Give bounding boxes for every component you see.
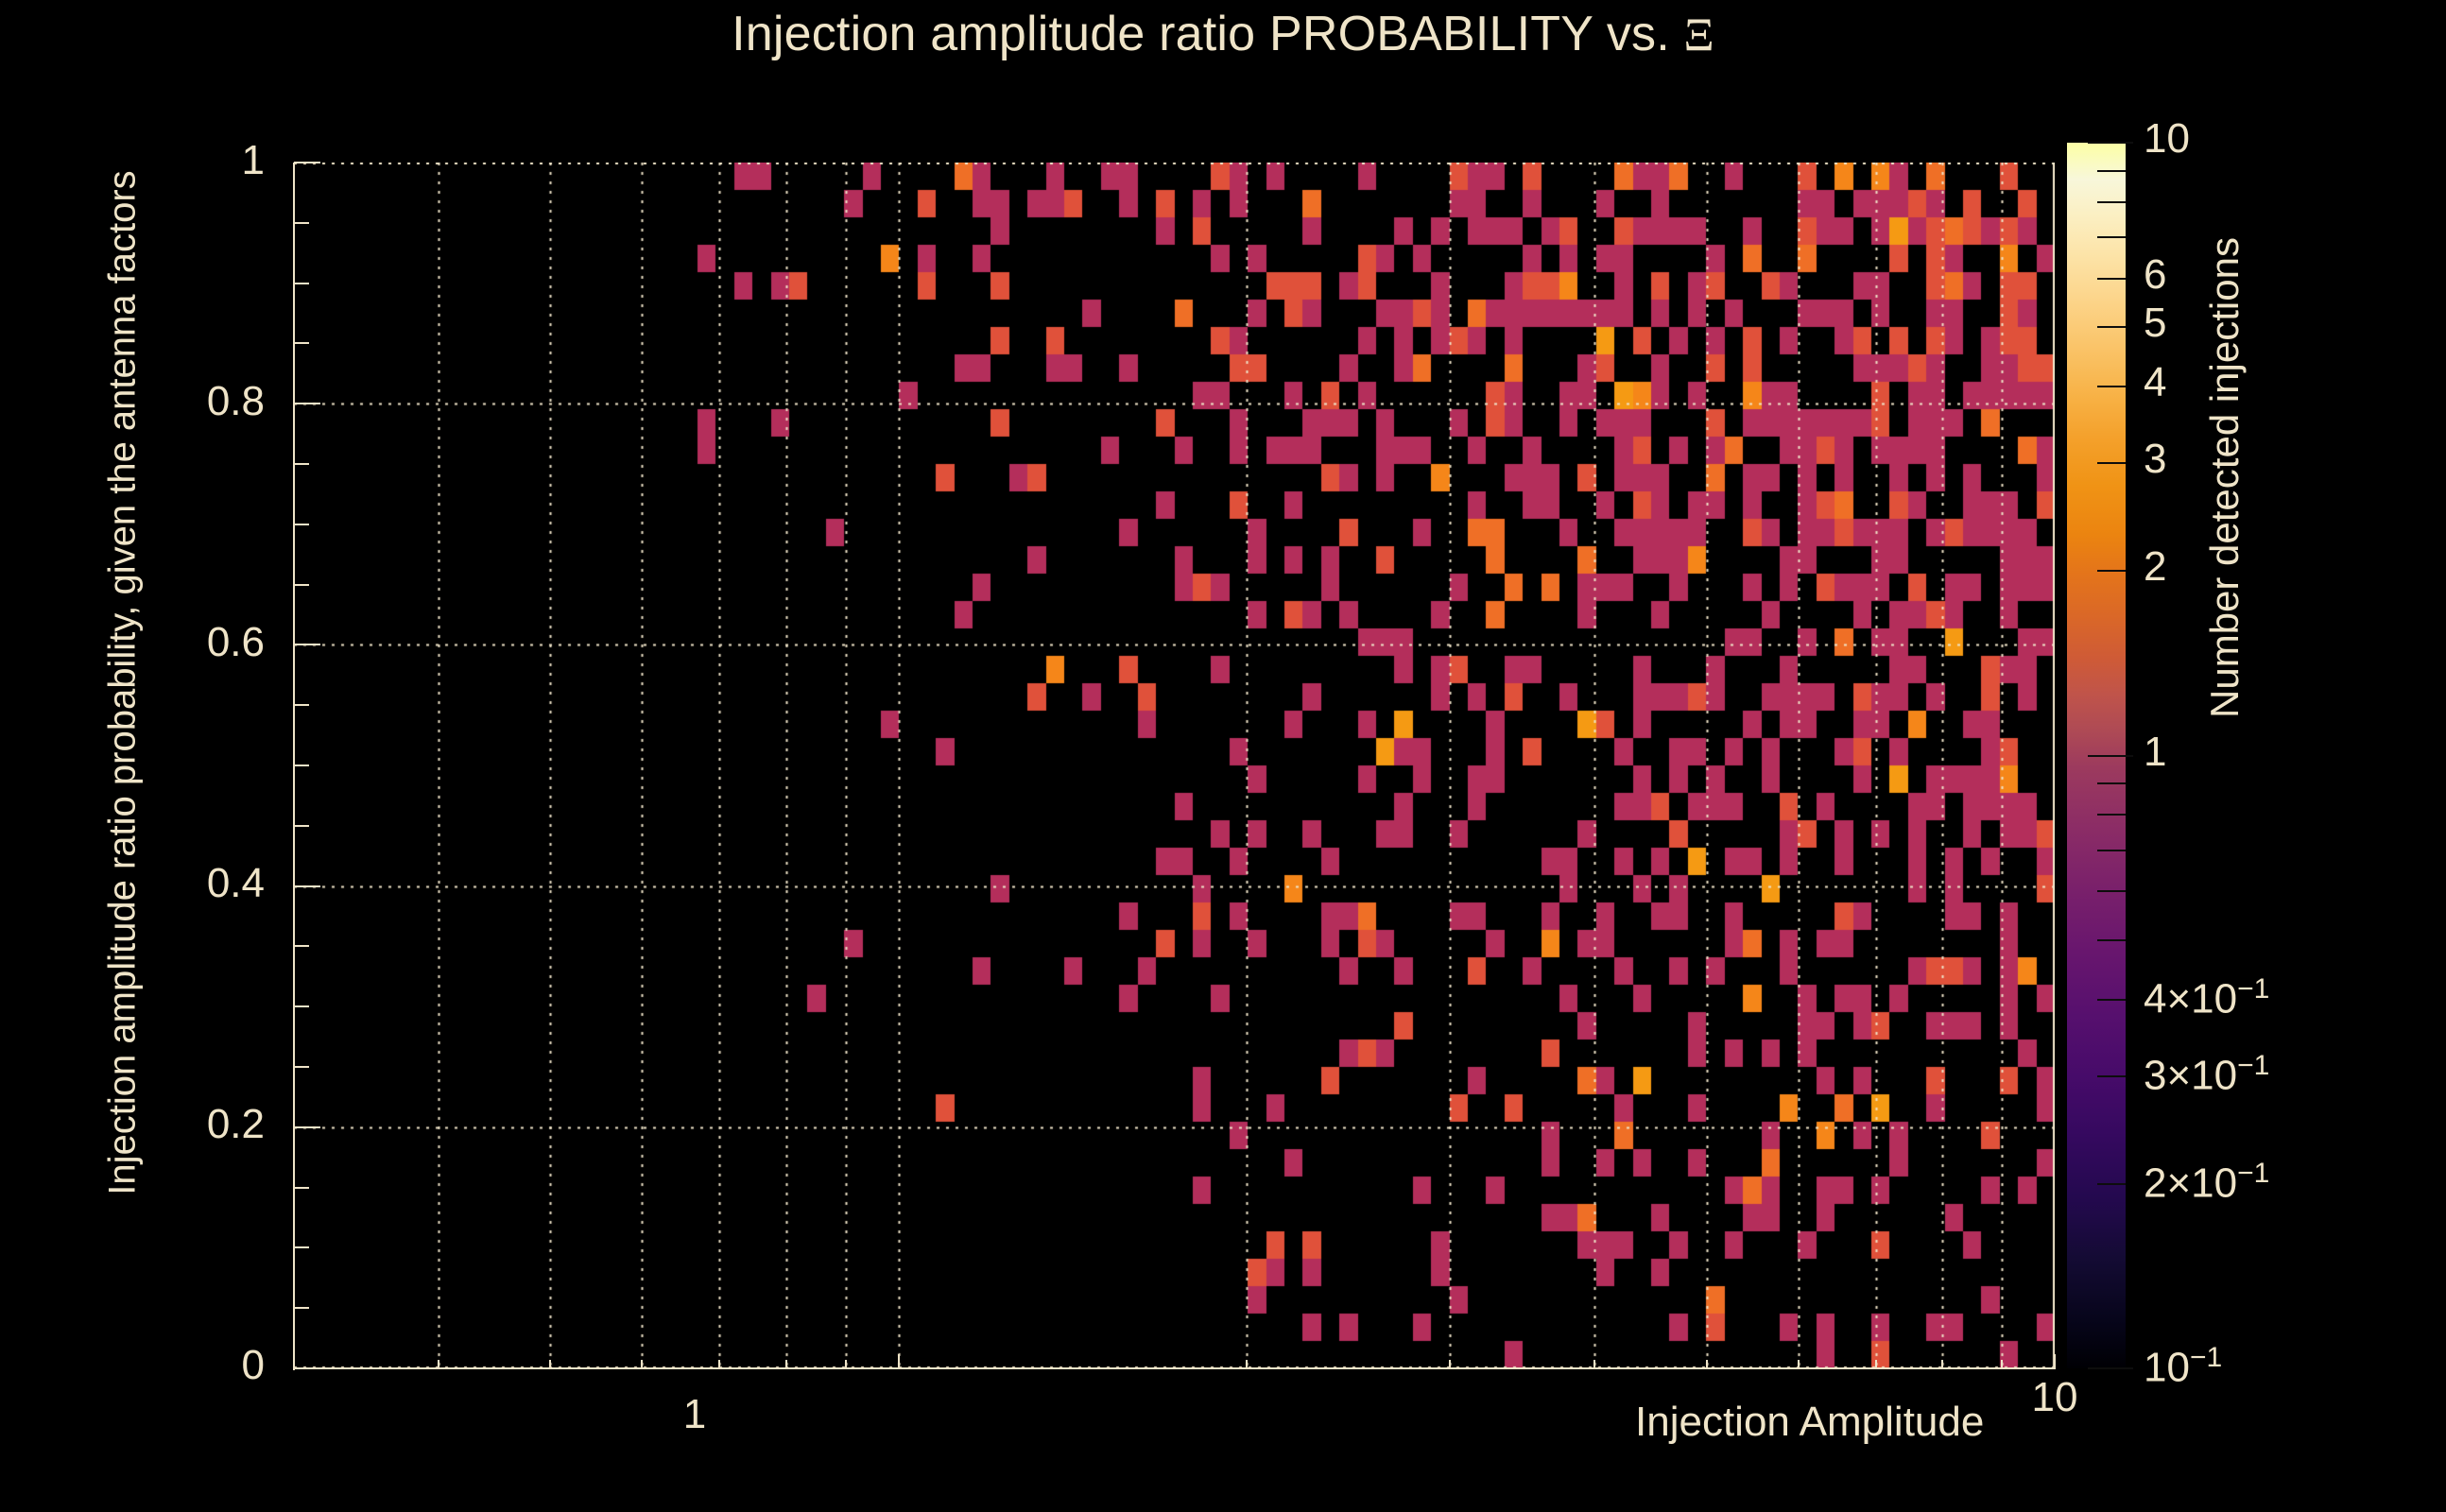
x-axis-line: [294, 1367, 2056, 1369]
colorbar-label-3: 3: [2144, 438, 2166, 480]
y-tick-0.30: [294, 1005, 309, 1007]
colorbar-tick-2: [2097, 570, 2126, 572]
y-tick-0.85: [294, 342, 309, 344]
x-tick-0.5: [549, 1360, 551, 1368]
plot-area: [294, 163, 2055, 1368]
colorbar-label-0.2: 2×10−1: [2144, 1160, 2269, 1205]
y-tick-0.05: [294, 1307, 309, 1309]
y-tick-0.55: [294, 704, 309, 706]
x-tick-8: [1941, 1360, 1943, 1368]
y-tick-0.70: [294, 524, 309, 525]
x-tick-label-1: 1: [619, 1394, 770, 1435]
x-tick-label-10: 10: [1979, 1377, 2130, 1418]
colorbar-tick-6: [2097, 278, 2126, 280]
xi-symbol: Ξ: [1684, 8, 1714, 60]
x-tick-0.6000000000000001: [641, 1360, 643, 1368]
colorbar-tick-0.30000000000000004: [2097, 1075, 2126, 1077]
x-tick-0.30000000000000004: [293, 1360, 295, 1368]
colorbar-tick-0.9: [2097, 782, 2126, 784]
y-axis-title: Injection amplitude ratio probability, g…: [102, 69, 145, 1297]
colorbar-tick-0.7000000000000001: [2097, 850, 2126, 851]
colorbar: [2067, 143, 2126, 1368]
colorbar-tick-0.6000000000000001: [2097, 890, 2126, 892]
colorbar-label-4: 4: [2144, 362, 2166, 404]
colorbar-label-1: 1: [2144, 731, 2166, 773]
x-tick-4: [1593, 1360, 1595, 1368]
y-tick-0.65: [294, 584, 309, 586]
y-tick-0.45: [294, 825, 309, 827]
colorbar-tick-0.5: [2097, 939, 2126, 941]
colorbar-tick-0.4: [2097, 999, 2126, 1001]
colorbar-tick-8: [2097, 201, 2126, 203]
x-tick-0.4: [438, 1360, 439, 1368]
y-tick-0.40: [294, 885, 320, 887]
x-tick-0.8: [785, 1360, 787, 1368]
colorbar-label-10: 10: [2144, 118, 2190, 160]
colorbar-tick-0.8: [2097, 814, 2126, 816]
x-axis-title: Injection Amplitude: [1635, 1399, 1984, 1446]
colorbar-label-0.3: 3×10−1: [2144, 1052, 2269, 1097]
colorbar-label-2: 2: [2144, 546, 2166, 588]
colorbar-tick-3: [2097, 462, 2126, 464]
x-tick-3: [1449, 1360, 1451, 1368]
colorbar-tick-0.2: [2097, 1183, 2126, 1185]
x-tick-7: [1875, 1360, 1877, 1368]
colorbar-tick-10: [2088, 142, 2133, 144]
x-tick-2: [1246, 1360, 1248, 1368]
y-tick-0.15: [294, 1187, 309, 1189]
y-tick-0.35: [294, 945, 309, 947]
chart-root: Injection amplitude ratio PROBABILITY vs…: [0, 0, 2446, 1512]
x-tick-1: [898, 1354, 900, 1368]
y-tick-label-0: 0: [76, 1345, 265, 1386]
colorbar-tick-0.1: [2088, 1367, 2133, 1369]
colorbar-title: Number detected injections: [2202, 0, 2248, 718]
x-tick-6: [1798, 1360, 1800, 1368]
y-tick-0.25: [294, 1066, 309, 1068]
y-tick-0.00: [294, 1367, 320, 1369]
y-tick-0.10: [294, 1246, 309, 1248]
y-axis-title-wrapper: Injection amplitude ratio probability, g…: [0, 0, 1, 1]
y-tick-0.95: [294, 222, 309, 224]
y-tick-1.00: [294, 162, 320, 163]
x-tick-5: [1706, 1360, 1708, 1368]
colorbar-label-5: 5: [2144, 302, 2166, 344]
colorbar-tick-4: [2097, 386, 2126, 387]
y-tick-0.80: [294, 403, 320, 404]
colorbar-label-0.1: 10−1: [2144, 1344, 2222, 1389]
colorbar-label-0.4: 4×10−1: [2144, 975, 2269, 1021]
page-title: Injection amplitude ratio PROBABILITY vs…: [0, 6, 2446, 62]
colorbar-tick-1: [2088, 755, 2133, 757]
y-tick-0.50: [294, 765, 309, 766]
x-tick-0.7000000000000001: [718, 1360, 720, 1368]
y-tick-0.60: [294, 644, 320, 645]
x-tick-9: [2001, 1360, 2003, 1368]
y-tick-0.75: [294, 463, 309, 465]
x-tick-10: [2054, 1354, 2056, 1368]
x-tick-0.9: [845, 1360, 847, 1368]
colorbar-tick-7: [2097, 236, 2126, 238]
colorbar-tick-9: [2097, 170, 2126, 172]
y-tick-0.90: [294, 283, 309, 284]
title-text: Injection amplitude ratio PROBABILITY vs…: [732, 7, 1683, 61]
colorbar-tick-5: [2097, 326, 2126, 328]
y-tick-0.20: [294, 1126, 320, 1128]
colorbar-label-6: 6: [2144, 254, 2166, 296]
heatmap-canvas: [294, 163, 2055, 1368]
